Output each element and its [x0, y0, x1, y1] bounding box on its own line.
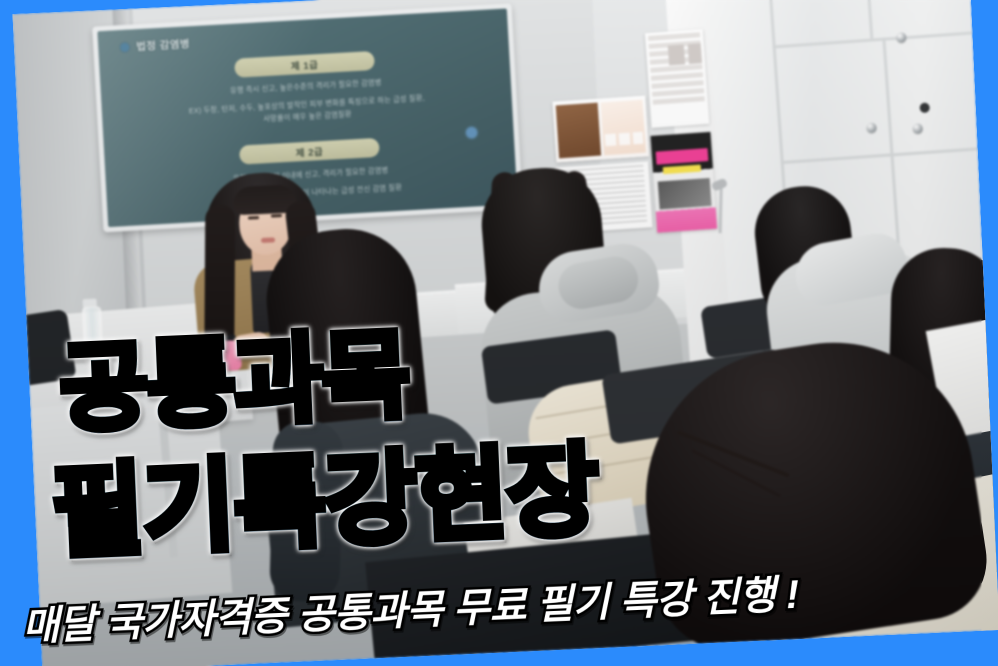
instructor-mouth: [261, 237, 275, 243]
photo-canvas: 법정 감염병 제 1급 유행 즉시 신고, 높은수준의 격리가 필요한 감염병 …: [13, 0, 998, 666]
classroom-photo: 법정 감염병 제 1급 유행 즉시 신고, 높은수준의 격리가 필요한 감염병 …: [13, 0, 998, 666]
front-desk-lower: [13, 393, 233, 611]
slide-pill-label: 제 2급: [295, 143, 323, 159]
blue-dot-icon: [120, 43, 129, 52]
pink-desk-object: [203, 340, 242, 372]
wall-poster-pink: [651, 132, 718, 233]
instructor-eye: [248, 216, 259, 219]
wall-poster-brown: [552, 95, 649, 162]
instructor-eye: [271, 214, 282, 217]
cabinet-seam: [781, 147, 989, 165]
screen-glare-dot: [465, 126, 478, 139]
wall-poster-chart: [645, 29, 710, 128]
water-bottle: [82, 306, 104, 363]
cabinet-knob[interactable]: [866, 122, 877, 133]
presentation-screen: 법정 감염병 제 1급 유행 즉시 신고, 높은수준의 격리가 필요한 감염병 …: [97, 9, 517, 228]
cabinet-seam: [773, 31, 981, 49]
slide-pill-grade2: 제 2급: [239, 138, 380, 165]
instructor-hair-strand: [204, 205, 235, 355]
office-chair: [13, 309, 77, 387]
student-arm: [269, 420, 343, 602]
slide-pill-label: 제 1급: [290, 57, 318, 73]
promotional-thumbnail: 법정 감염병 제 1급 유행 즉시 신고, 높은수준의 격리가 필요한 감염병 …: [0, 0, 998, 666]
slide-header-text: 법정 감염병: [136, 36, 190, 54]
cabinet-knob[interactable]: [912, 123, 923, 134]
cabinet-knob[interactable]: [896, 32, 907, 43]
cabinet-seam: [866, 0, 873, 39]
slide-header: 법정 감염병: [120, 36, 190, 55]
slide-pill-grade1: 제 1급: [234, 51, 375, 78]
